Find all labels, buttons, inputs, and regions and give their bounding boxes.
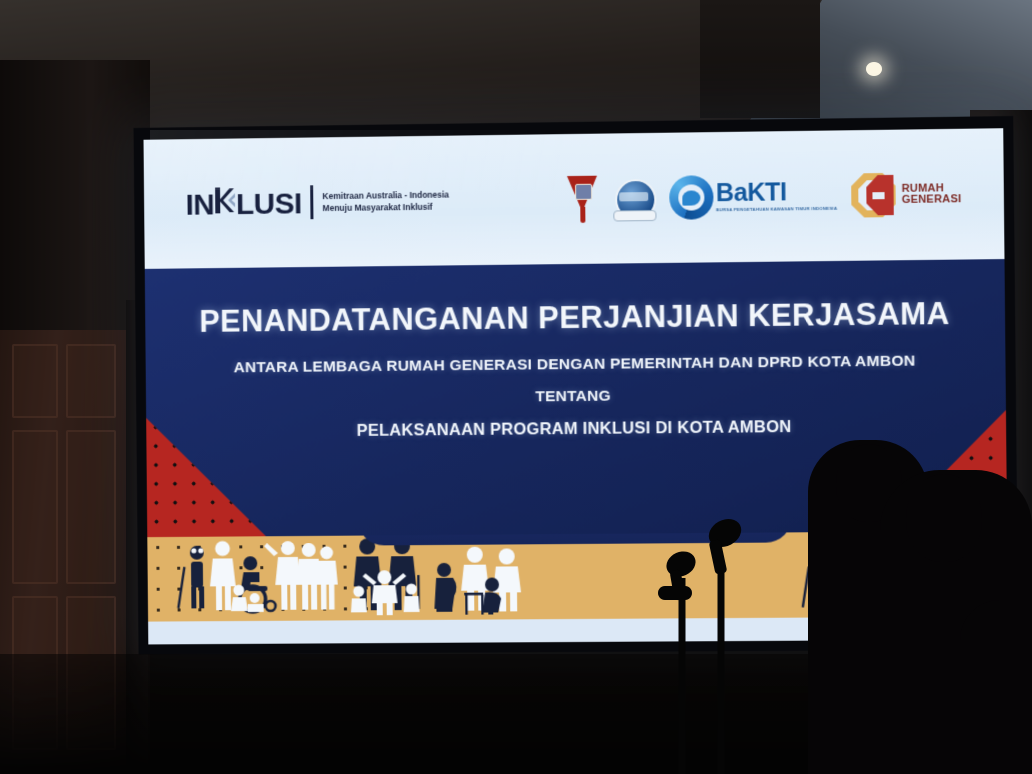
bakti-wave-icon	[669, 175, 714, 220]
inklusi-k-chevron-icon	[214, 184, 236, 214]
inklusi-tagline: Kemitraan Australia - Indonesia Menuju M…	[322, 189, 449, 215]
bakti-subtitle: BURSA PENGETAHUAN KAWASAN TIMUR INDONESI…	[716, 207, 837, 213]
rumah-generasi-line2: GENERASI	[902, 194, 962, 206]
inklusi-tagline-line2: Menuju Masyarakat Inklusif	[323, 201, 450, 215]
ceiling-downlight-icon	[866, 62, 882, 76]
rumah-generasi-hex-icon	[851, 173, 896, 218]
slide-subtitle-line2: TENTANG	[146, 384, 1006, 410]
bakti-wordmark: BaKTI	[716, 180, 837, 207]
door-panel	[66, 344, 116, 418]
slide-header: INLUSI Kemitraan Australia - Indonesia M…	[144, 128, 1005, 269]
door-panel	[12, 344, 58, 418]
crest-red-shield-icon	[567, 175, 598, 222]
partner-logo-row: BaKTI BURSA PENGETAHUAN KAWASAN TIMUR IN…	[567, 171, 962, 223]
person-head-b	[906, 474, 982, 562]
conference-room-photo: INLUSI Kemitraan Australia - Indonesia M…	[0, 0, 1032, 774]
rumah-generasi-logo: RUMAH GENERASI	[851, 172, 962, 218]
inklusi-wordmark-text: INLUSI	[185, 183, 302, 222]
person-silhouette-c	[960, 600, 1032, 774]
bakti-logo: BaKTI BURSA PENGETAHUAN KAWASAN TIMUR IN…	[669, 174, 838, 220]
ceiling-beam	[700, 0, 820, 118]
door-panel	[12, 430, 58, 584]
slide-subtitle-line1: ANTARA LEMBAGA RUMAH GENERASI DENGAN PEM…	[146, 352, 1006, 379]
slide-subtitle-line3: PELAKSANAAN PROGRAM INKLUSI DI KOTA AMBO…	[146, 416, 1006, 443]
door-panel	[66, 430, 116, 584]
inklusi-wordmark: INLUSI	[185, 183, 302, 222]
crest-blue-seal-icon	[612, 174, 656, 222]
inklusi-logo: INLUSI Kemitraan Australia - Indonesia M…	[185, 182, 449, 223]
slide-title: PENANDATANGANAN PERJANJIAN KERJASAMA	[145, 295, 1005, 340]
logo-divider	[311, 185, 314, 219]
microphone-stand-right	[690, 512, 752, 774]
